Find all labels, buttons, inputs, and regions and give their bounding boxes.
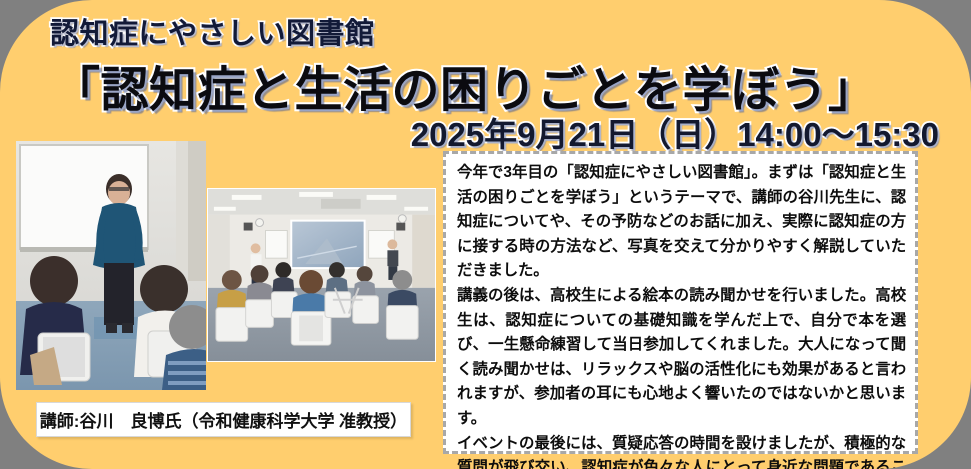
photo-audience	[207, 188, 436, 362]
report-paragraph-1: 今年で3年目の「認知症にやさしい図書館」。まずは「認知症と生活の困りごとを学ぼう…	[457, 161, 906, 284]
lecturer-caption-text: 講師:谷川 良博氏（令和健康科学大学 准教授）	[40, 407, 407, 432]
event-datetime: 2025年9月21日（日）14:00〜15:30	[411, 108, 939, 156]
photo-lecturer-graphic	[16, 141, 206, 390]
report-paragraph-2: 講義の後は、高校生による絵本の読み聞かせを行いました。高校生は、認知症についての…	[457, 284, 906, 432]
series-kicker: 認知症にやさしい図書館	[50, 10, 375, 52]
lecturer-caption: 講師:谷川 良博氏（令和健康科学大学 准教授）	[36, 402, 411, 437]
report-panel: 今年で3年目の「認知症にやさしい図書館」。まずは「認知症と生活の困りごとを学ぼう…	[443, 151, 918, 454]
report-paragraph-3: イベントの最後には、質疑応答の時間を設けましたが、積極的な質問が飛び交い、認知症…	[457, 432, 906, 469]
photo-audience-graphic	[208, 189, 435, 361]
photo-lecturer	[16, 141, 206, 390]
poster-root: 認知症にやさしい図書館 「認知症と生活の困りごとを学ぼう」 2025年9月21日…	[0, 0, 971, 469]
